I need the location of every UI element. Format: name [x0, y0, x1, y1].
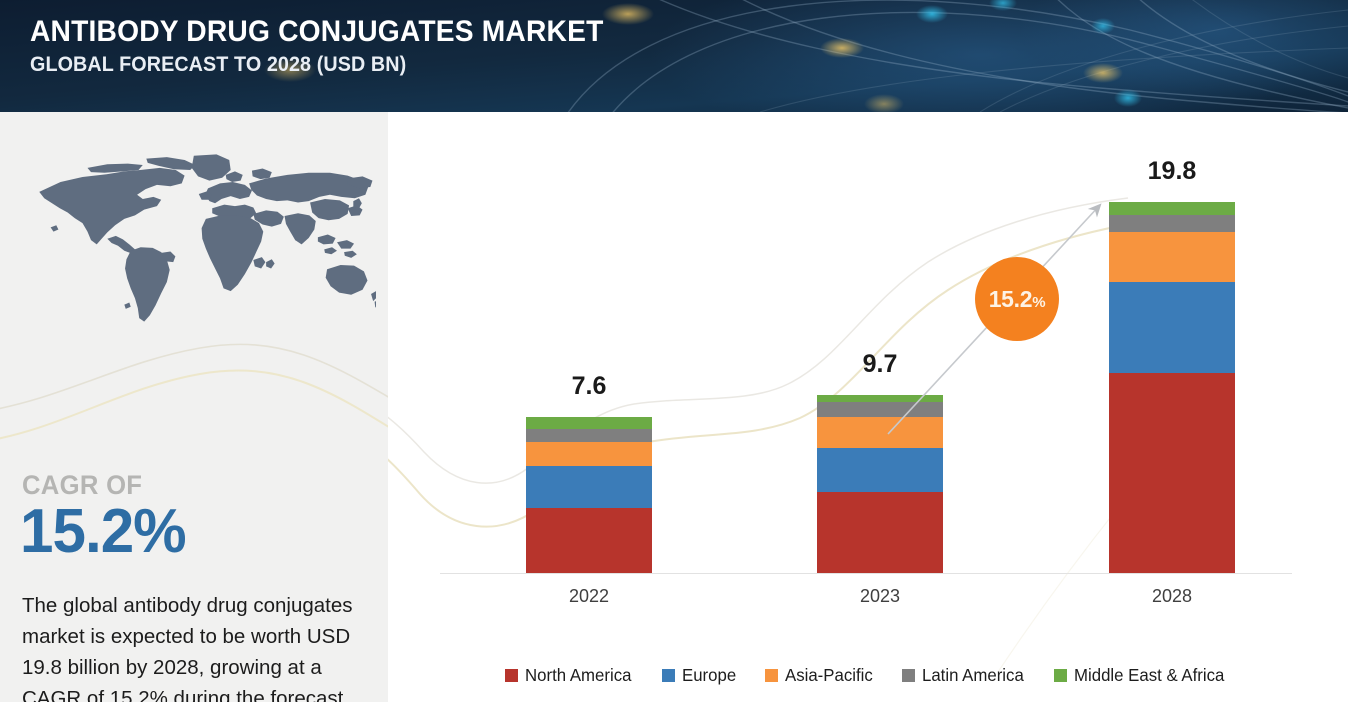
bar-segment-middle-east-africa	[817, 395, 943, 402]
bar-segment-europe	[817, 448, 943, 492]
legend-swatch-europe	[662, 669, 675, 682]
bar-total-label-2022: 7.6	[526, 372, 652, 401]
sidebar-panel: CAGR OF 15.2% The global antibody drug c…	[0, 112, 388, 702]
world-map-icon	[18, 138, 376, 338]
bar-segment-europe	[1109, 282, 1235, 373]
legend-item-latin-america: Latin America	[902, 665, 1028, 686]
world-map	[18, 138, 376, 338]
stacked-bar-plot: 7.6 2022 9.7 2023 19.8	[388, 112, 1348, 702]
x-axis-label-2022: 2022	[499, 586, 679, 607]
legend-swatch-latin-america	[902, 669, 915, 682]
header-banner: ANTIBODY DRUG CONJUGATES MARKET GLOBAL F…	[0, 0, 1348, 112]
legend-item-north-america: North America	[505, 665, 636, 686]
chart-area: 7.6 2022 9.7 2023 19.8	[388, 112, 1348, 702]
legend-item-middle-east-africa: Middle East & Africa	[1054, 665, 1231, 686]
page-title: ANTIBODY DRUG CONJUGATES MARKET	[30, 14, 604, 50]
bar-segment-north-america	[526, 508, 652, 573]
header-text-block: ANTIBODY DRUG CONJUGATES MARKET GLOBAL F…	[30, 14, 640, 80]
legend-item-asia-pacific: Asia-Pacific	[765, 665, 876, 686]
legend-item-europe: Europe	[662, 665, 738, 686]
cagr-callout-percent: %	[1032, 294, 1045, 311]
bar-2022	[526, 417, 652, 573]
cagr-value: 15.2%	[20, 498, 186, 566]
chart-legend: North America Europe Asia-Pacific Latin …	[388, 660, 1348, 690]
legend-label-asia-pacific: Asia-Pacific	[785, 665, 873, 686]
legend-label-north-america: North America	[525, 665, 631, 686]
legend-swatch-north-america	[505, 669, 518, 682]
bar-segment-latin-america	[526, 429, 652, 442]
bar-total-label-2028: 19.8	[1109, 157, 1235, 186]
bar-2028	[1109, 202, 1235, 573]
bar-segment-asia-pacific	[817, 417, 943, 448]
cagr-callout-bubble: 15.2%	[975, 257, 1059, 341]
bar-segment-north-america	[1109, 373, 1235, 573]
legend-swatch-asia-pacific	[765, 669, 778, 682]
bar-segment-north-america	[817, 492, 943, 573]
legend-label-latin-america: Latin America	[922, 665, 1024, 686]
x-axis-label-2028: 2028	[1082, 586, 1262, 607]
bar-segment-latin-america	[817, 402, 943, 417]
legend-swatch-middle-east-africa	[1054, 669, 1067, 682]
page-subtitle: GLOBAL FORECAST TO 2028 (USD BN)	[30, 50, 604, 80]
infographic-root: ANTIBODY DRUG CONJUGATES MARKET GLOBAL F…	[0, 0, 1348, 702]
cagr-callout-number: 15.2	[989, 286, 1033, 312]
bar-segment-europe	[526, 466, 652, 508]
bar-segment-middle-east-africa	[526, 417, 652, 429]
legend-label-europe: Europe	[682, 665, 736, 686]
sidebar-description: The global antibody drug conjugates mark…	[22, 590, 372, 702]
x-axis-line	[440, 573, 1292, 574]
x-axis-label-2023: 2023	[790, 586, 970, 607]
cagr-callout-text: 15.2%	[989, 286, 1046, 313]
bar-segment-middle-east-africa	[1109, 202, 1235, 215]
bar-2023	[817, 395, 943, 573]
legend-label-middle-east-africa: Middle East & Africa	[1074, 665, 1224, 686]
bar-total-label-2023: 9.7	[817, 350, 943, 379]
bar-segment-latin-america	[1109, 215, 1235, 232]
bar-segment-asia-pacific	[1109, 232, 1235, 282]
bar-segment-asia-pacific	[526, 442, 652, 466]
